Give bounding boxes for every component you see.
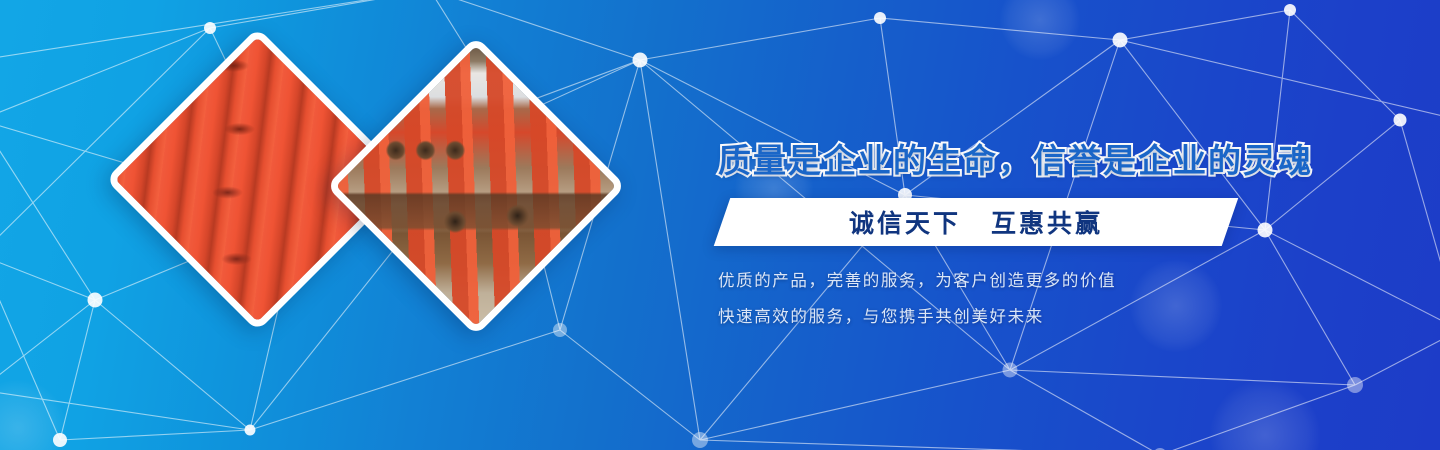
subtitle-line-1: 优质的产品，完善的服务，为客户创造更多的价值 xyxy=(718,267,1116,291)
subtitle-line-2: 快速高效的服务，与您携手共创美好未来 xyxy=(718,303,1044,327)
slogan-left: 诚信天下 xyxy=(849,204,961,240)
headline: 质量是企业的生命，信誉是企业的灵魂 xyxy=(718,134,1313,182)
slogan-right: 互惠共赢 xyxy=(991,204,1103,240)
slogan-text-wrap: 诚信天下 互惠共赢 xyxy=(722,198,1230,246)
promo-banner: 质量是企业的生命，信誉是企业的灵魂 诚信天下 互惠共赢 优质的产品，完善的服务，… xyxy=(0,0,1440,450)
